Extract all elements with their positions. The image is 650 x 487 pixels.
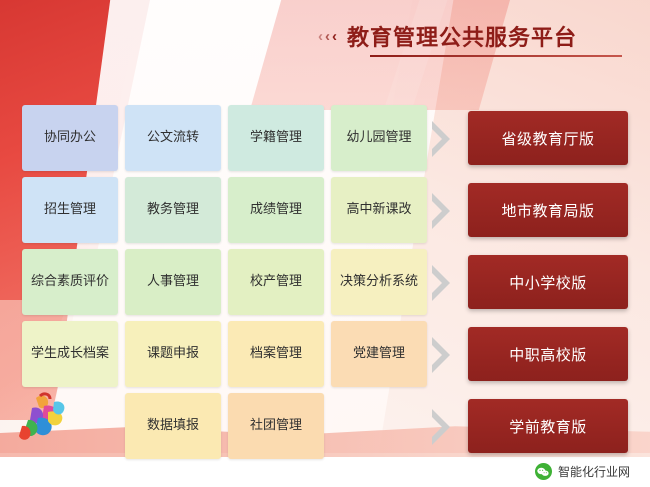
module-cell[interactable]: 校产管理 [228,249,324,315]
edition-button[interactable]: 中小学校版 [468,255,628,309]
footer-brand: 智能化行业网 [535,463,630,480]
slide-canvas: ‹ ‹ ‹ 教育管理公共服务平台 协同办公 公文流转 学籍管理 幼儿园管理 招生… [0,0,650,487]
module-cell[interactable]: 成绩管理 [228,177,324,243]
arrow-right-icon [430,119,452,159]
wechat-icon [535,463,552,480]
module-cell[interactable]: 学籍管理 [228,105,324,171]
chevron-left-icon-1: ‹ [318,29,323,44]
module-cell-empty [331,393,427,459]
module-cell[interactable]: 学生成长档案 [22,321,118,387]
edition-button[interactable]: 省级教育厅版 [468,111,628,165]
module-cell[interactable]: 课题申报 [125,321,221,387]
runner-figure-icon [14,392,84,444]
footer-brand-label: 智能化行业网 [558,463,630,480]
module-cell[interactable]: 党建管理 [331,321,427,387]
edition-button[interactable]: 地市教育局版 [468,183,628,237]
edition-button[interactable]: 中职高校版 [468,327,628,381]
chevron-left-icon-group: ‹ ‹ ‹ [318,29,337,44]
module-cell[interactable]: 数据填报 [125,393,221,459]
module-cell[interactable]: 社团管理 [228,393,324,459]
module-cell[interactable]: 协同办公 [22,105,118,171]
arrow-right-icon [430,335,452,375]
arrow-right-icon [430,191,452,231]
module-cell[interactable]: 决策分析系统 [331,249,427,315]
arrow-right-icon [430,263,452,303]
module-cell[interactable]: 招生管理 [22,177,118,243]
module-cell[interactable]: 档案管理 [228,321,324,387]
title-underline [370,55,622,57]
module-cell[interactable]: 幼儿园管理 [331,105,427,171]
chevron-left-icon-3: ‹ [332,29,337,44]
edition-button[interactable]: 学前教育版 [468,399,628,453]
module-cell[interactable]: 人事管理 [125,249,221,315]
slide-header: ‹ ‹ ‹ 教育管理公共服务平台 [318,20,577,52]
module-cell[interactable]: 综合素质评价 [22,249,118,315]
module-cell[interactable]: 教务管理 [125,177,221,243]
module-cell[interactable]: 高中新课改 [331,177,427,243]
arrow-right-icon [430,407,452,447]
page-title: 教育管理公共服务平台 [347,20,577,52]
module-cell[interactable]: 公文流转 [125,105,221,171]
chevron-left-icon-2: ‹ [325,29,330,44]
